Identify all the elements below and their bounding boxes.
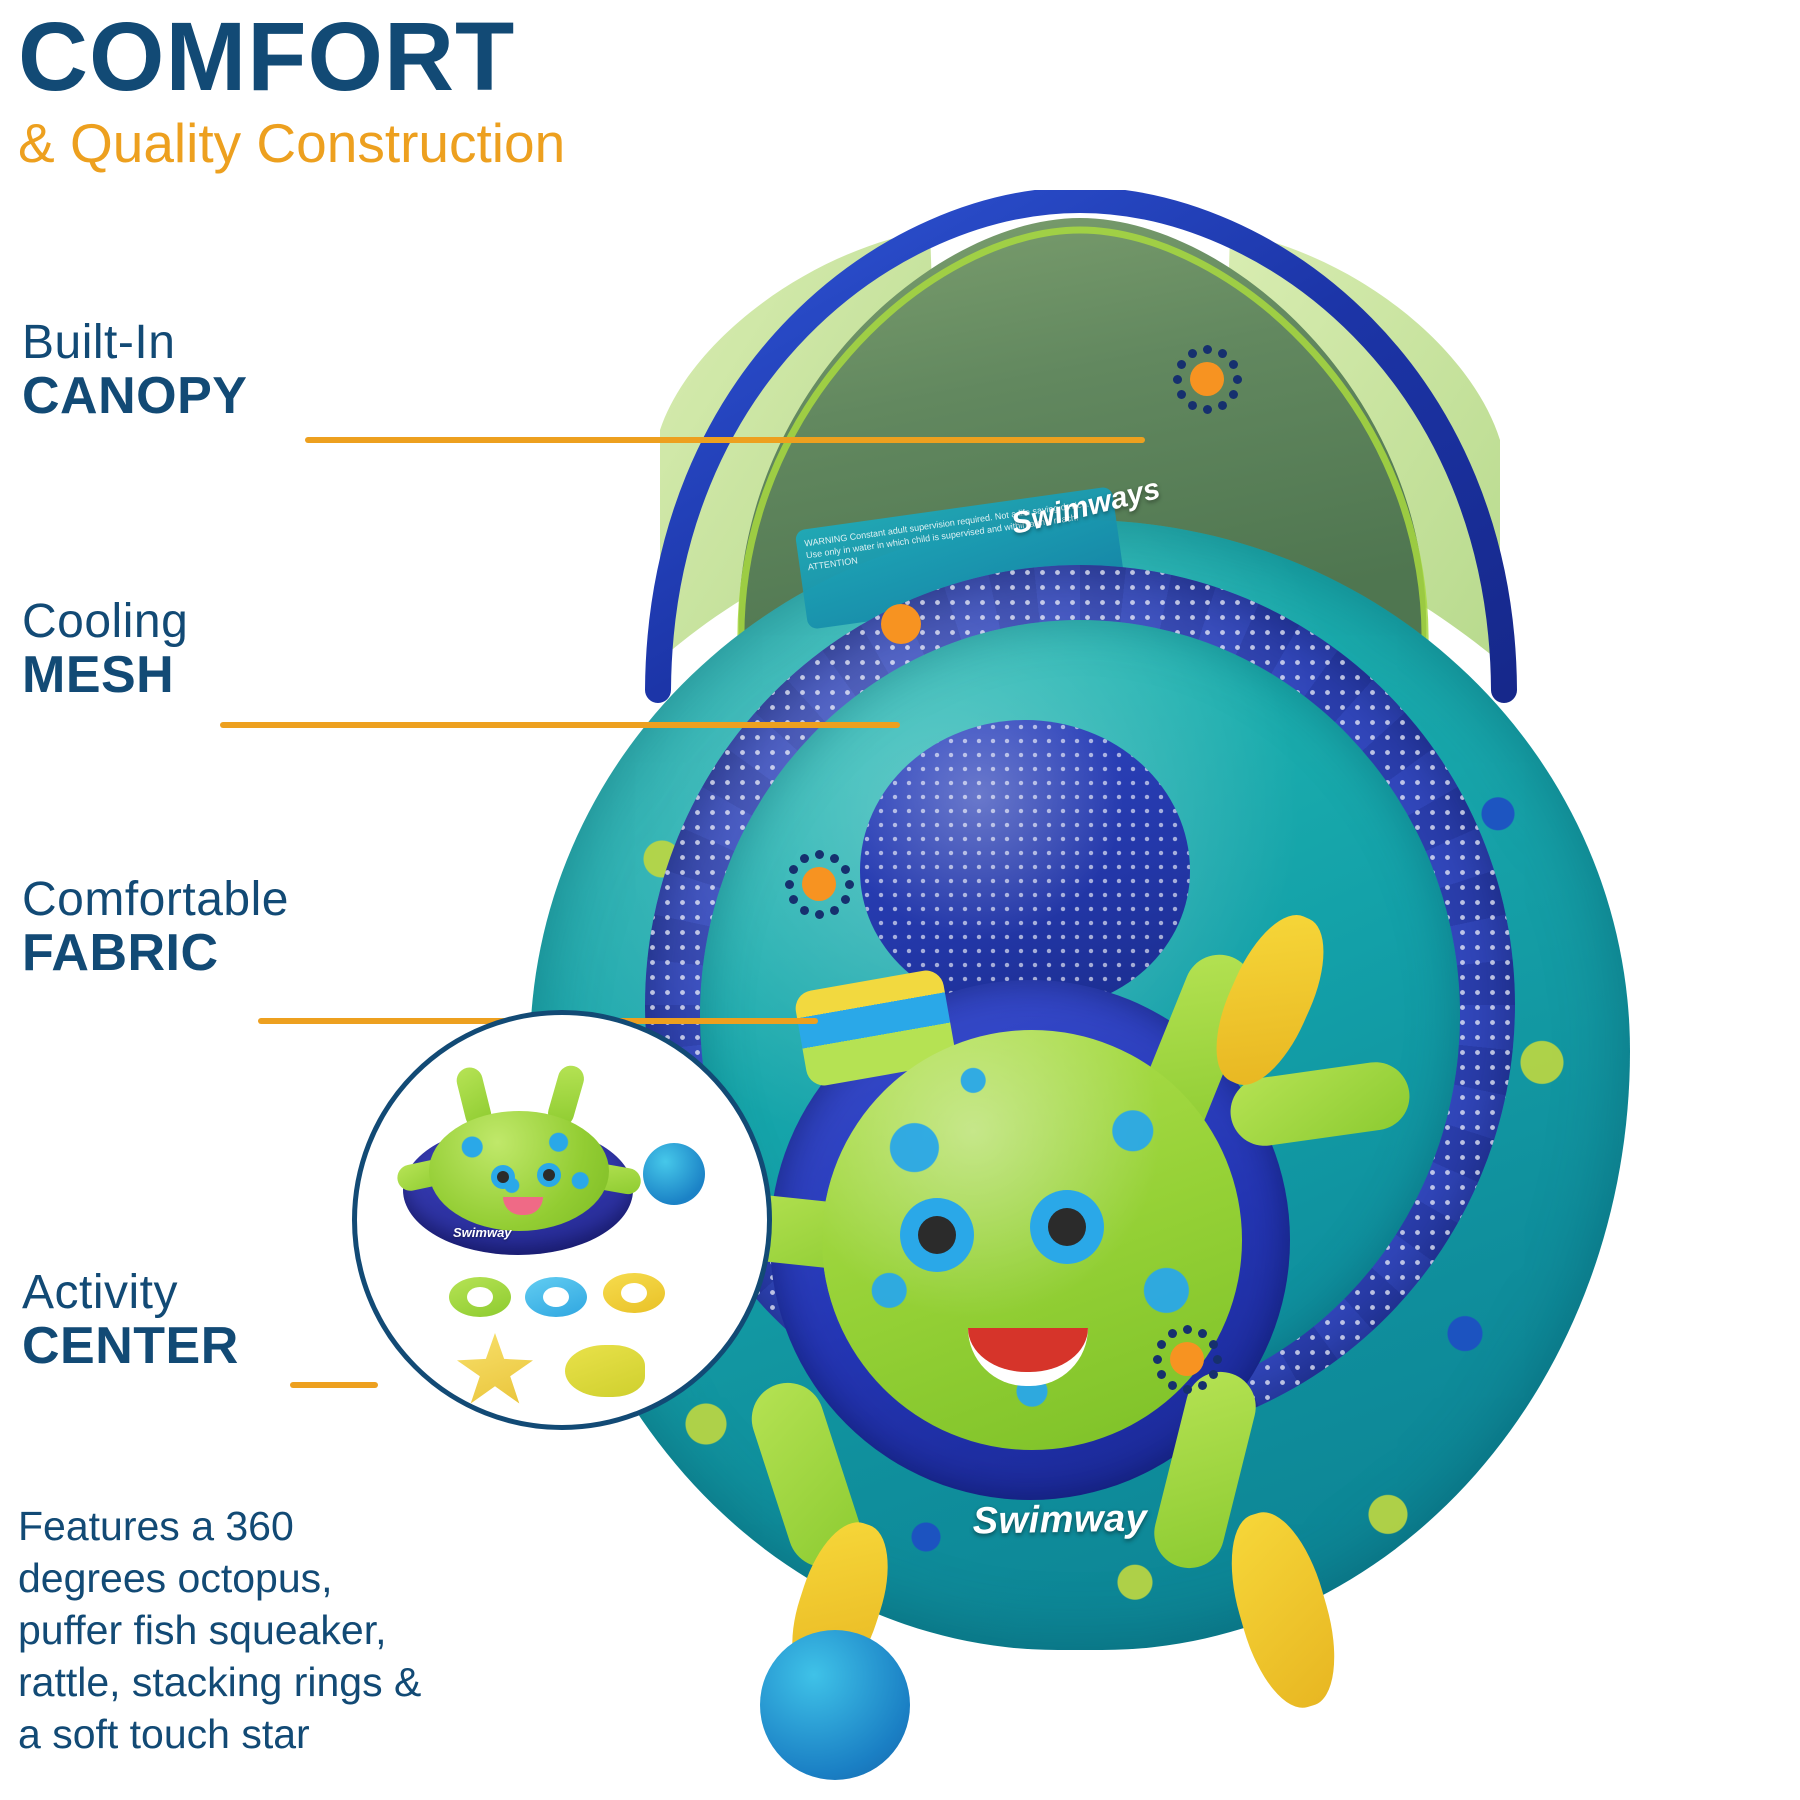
inset-stacking-ring-yellow (603, 1273, 665, 1313)
callout-marker-fabric (780, 845, 858, 923)
features-description: Features a 360 degrees octopus, puffer f… (18, 1500, 448, 1760)
marker-core (1170, 1342, 1204, 1376)
octopus-eye-left (900, 1198, 974, 1272)
product-photo: WARNING Constant adult supervision requi… (470, 190, 1800, 1800)
marker-ring-dot (1168, 1380, 1177, 1389)
marker-ring-dot (1203, 345, 1212, 354)
headline-block: COMFORT & Quality Construction (18, 8, 565, 173)
marker-ring-dot (1228, 390, 1237, 399)
marker-ring-dot (1183, 1325, 1192, 1334)
marker-ring-dot (1218, 349, 1227, 358)
marker-ring-dot (830, 905, 839, 914)
marker-core (1190, 362, 1224, 396)
callout-marker-canopy (1168, 340, 1246, 418)
octopus-eye-right (1030, 1190, 1104, 1264)
inset-soft-touch-star (457, 1333, 533, 1405)
inset-octopus-eye-left (491, 1165, 515, 1189)
marker-ring-dot (845, 880, 854, 889)
head-pillow (860, 720, 1190, 1010)
marker-ring-dot (1168, 1329, 1177, 1338)
marker-ring-dot (1177, 390, 1186, 399)
marker-ring-dot (1188, 349, 1197, 358)
marker-ring-dot (1198, 1329, 1207, 1338)
marker-ring-dot (1173, 375, 1182, 384)
marker-ring-dot (1198, 1380, 1207, 1389)
callout-center-line2: CENTER (22, 1319, 239, 1374)
callout-fabric: Comfortable FABRIC (22, 875, 289, 981)
marker-ring-dot (1228, 360, 1237, 369)
marker-ring-dot (789, 865, 798, 874)
page-subtitle: & Quality Construction (18, 113, 565, 174)
marker-ring-dot (1233, 375, 1242, 384)
inset-fish-toy (565, 1345, 645, 1397)
inset-stacking-ring-blue-star (525, 1277, 587, 1317)
marker-ring-dot (840, 895, 849, 904)
callout-center: Activity CENTER (22, 1268, 239, 1374)
marker-ring-dot (785, 880, 794, 889)
callout-mesh-line1: Cooling (22, 597, 188, 648)
callout-canopy-line1: Built-In (22, 318, 247, 369)
marker-ring-dot (1183, 1385, 1192, 1394)
callout-marker-mesh (862, 585, 940, 663)
inset-stacking-ring-green (449, 1277, 511, 1317)
callout-marker-center (1148, 1320, 1226, 1398)
puffer-fish-squeaker (760, 1630, 910, 1780)
marker-ring-dot (1208, 1370, 1217, 1379)
marker-ring-dot (1213, 1355, 1222, 1364)
marker-ring-dot (1177, 360, 1186, 369)
callout-fabric-line2: FABRIC (22, 926, 289, 981)
marker-ring-dot (1153, 1355, 1162, 1364)
inset-puffer-fish (643, 1143, 705, 1205)
marker-ring-dot (789, 895, 798, 904)
callout-fabric-line1: Comfortable (22, 875, 289, 926)
inset-brand-logo: Swimway (453, 1225, 512, 1240)
inset-octopus-eye-right (537, 1163, 561, 1187)
leader-line-canopy (305, 437, 1145, 443)
infographic-canvas: COMFORT & Quality Construction (0, 0, 1800, 1800)
callout-mesh: Cooling MESH (22, 597, 188, 703)
marker-ring-dot (1203, 405, 1212, 414)
marker-ring-dot (1157, 1340, 1166, 1349)
leader-line-center (290, 1382, 378, 1388)
marker-ring-dot (1208, 1340, 1217, 1349)
marker-core (881, 604, 921, 644)
callout-center-line1: Activity (22, 1268, 239, 1319)
marker-ring-dot (830, 854, 839, 863)
marker-ring-dot (800, 905, 809, 914)
marker-ring-dot (815, 910, 824, 919)
brand-logo: Swimway (939, 1488, 1180, 1552)
callout-mesh-line2: MESH (22, 648, 188, 703)
marker-ring-dot (815, 850, 824, 859)
accessories-inset: Swimway (352, 1010, 772, 1430)
marker-ring-dot (1218, 400, 1227, 409)
marker-ring-dot (1188, 400, 1197, 409)
marker-ring-dot (800, 854, 809, 863)
marker-ring-dot (840, 865, 849, 874)
marker-core (802, 867, 836, 901)
marker-ring-dot (1157, 1370, 1166, 1379)
callout-canopy-line2: CANOPY (22, 369, 247, 424)
callout-canopy: Built-In CANOPY (22, 318, 247, 424)
page-title: COMFORT (18, 8, 565, 107)
leader-line-mesh (220, 722, 900, 728)
